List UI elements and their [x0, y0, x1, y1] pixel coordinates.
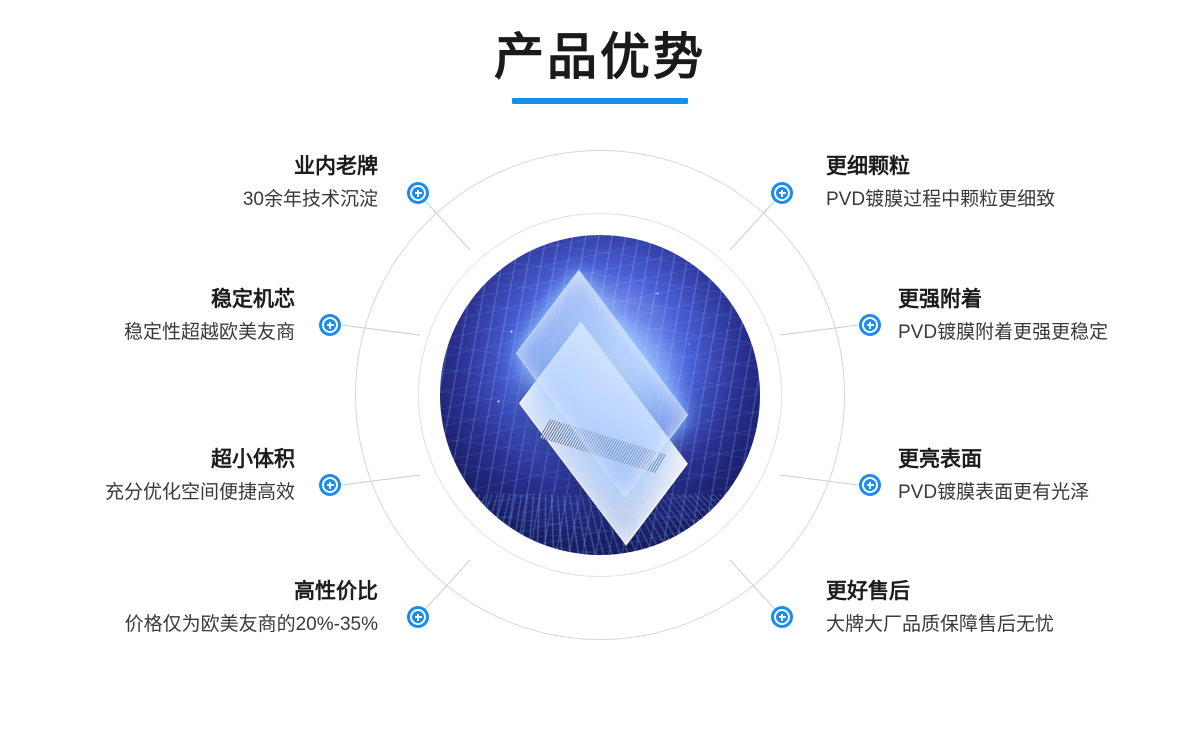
plus-circle-icon	[410, 185, 426, 201]
plus-node-left-1[interactable]	[407, 182, 429, 204]
plus-circle-icon	[774, 609, 790, 625]
plus-node-left-4[interactable]	[407, 606, 429, 628]
feature-title: 业内老牌	[243, 152, 378, 182]
feature-desc: 稳定性超越欧美友商	[124, 317, 295, 349]
hub-chip-image	[440, 235, 760, 555]
feature-right-4: 更好售后 大牌大厂品质保障售后无忧	[826, 577, 1054, 641]
feature-left-4: 高性价比 价格仅为欧美友商的20%-35%	[125, 577, 378, 641]
page-header: 产品优势	[0, 0, 1200, 104]
feature-title: 更细颗粒	[826, 152, 1055, 182]
plus-node-right-4[interactable]	[771, 606, 793, 628]
feature-left-3: 超小体积 充分优化空间便捷高效	[105, 445, 295, 509]
feature-title: 更强附着	[898, 285, 1108, 315]
chip-sparkles	[440, 235, 760, 555]
advantages-diagram: 业内老牌 30余年技术沉淀 稳定机芯 稳定性超越欧美友商 超小体积 充分优化空间…	[0, 130, 1200, 750]
feature-desc: PVD镀膜过程中颗粒更细致	[826, 184, 1055, 216]
feature-title: 更亮表面	[898, 445, 1089, 475]
feature-right-3: 更亮表面 PVD镀膜表面更有光泽	[898, 445, 1089, 509]
feature-title: 高性价比	[125, 577, 378, 607]
feature-desc: 价格仅为欧美友商的20%-35%	[125, 609, 378, 641]
feature-desc: 充分优化空间便捷高效	[105, 477, 295, 509]
plus-circle-icon	[410, 609, 426, 625]
feature-desc: PVD镀膜附着更强更稳定	[898, 317, 1108, 349]
plus-node-right-1[interactable]	[771, 182, 793, 204]
product-advantages-page: 产品优势	[0, 0, 1200, 750]
feature-right-2: 更强附着 PVD镀膜附着更强更稳定	[898, 285, 1108, 349]
feature-desc: 大牌大厂品质保障售后无忧	[826, 609, 1054, 641]
plus-circle-icon	[322, 317, 338, 333]
feature-title: 稳定机芯	[124, 285, 295, 315]
plus-node-left-2[interactable]	[319, 314, 341, 336]
plus-circle-icon	[862, 477, 878, 493]
feature-title: 更好售后	[826, 577, 1054, 607]
feature-left-2: 稳定机芯 稳定性超越欧美友商	[124, 285, 295, 349]
plus-node-right-2[interactable]	[859, 314, 881, 336]
feature-left-1: 业内老牌 30余年技术沉淀	[243, 152, 378, 216]
plus-circle-icon	[322, 477, 338, 493]
feature-right-1: 更细颗粒 PVD镀膜过程中颗粒更细致	[826, 152, 1055, 216]
plus-circle-icon	[774, 185, 790, 201]
feature-title: 超小体积	[105, 445, 295, 475]
plus-node-right-3[interactable]	[859, 474, 881, 496]
plus-node-left-3[interactable]	[319, 474, 341, 496]
title-underline	[512, 98, 688, 104]
feature-desc: 30余年技术沉淀	[243, 184, 378, 216]
page-title: 产品优势	[0, 26, 1200, 88]
plus-circle-icon	[862, 317, 878, 333]
feature-desc: PVD镀膜表面更有光泽	[898, 477, 1089, 509]
